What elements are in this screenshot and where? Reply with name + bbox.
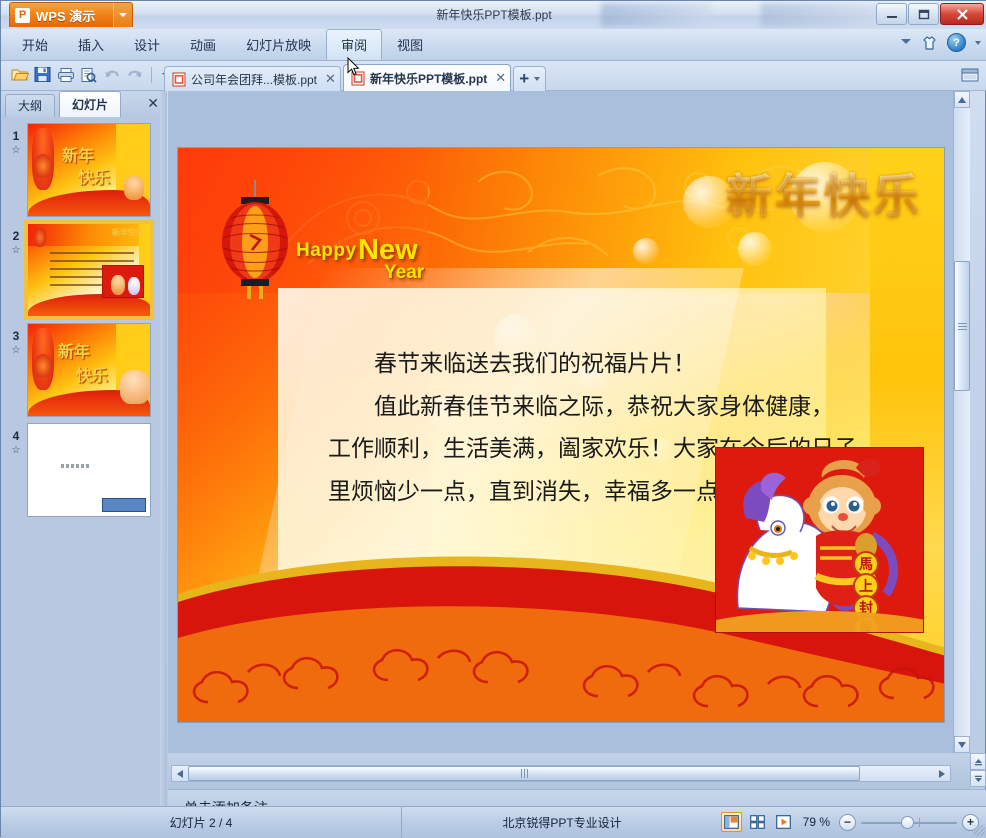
slide-counter: 幻灯片 2 / 4 bbox=[1, 807, 402, 838]
resize-grip-icon[interactable] bbox=[974, 825, 985, 836]
scroll-right-button[interactable] bbox=[934, 766, 950, 781]
chevron-down-icon[interactable] bbox=[900, 37, 912, 49]
zoom-out-button[interactable]: − bbox=[839, 814, 856, 831]
ppt-file-icon bbox=[172, 72, 186, 87]
slide-horizontal-scroll-area bbox=[168, 753, 970, 789]
quick-access-and-doctabs-row: 公司年会团拜...模板.ppt ✕ 新年快乐PPT模板.ppt ✕ + bbox=[1, 61, 986, 91]
bokeh-circle bbox=[738, 232, 772, 266]
previous-slide-button[interactable] bbox=[970, 753, 986, 770]
thumbnail-preview[interactable]: 新年 快乐 bbox=[27, 123, 151, 217]
slide-sorter-view-button[interactable] bbox=[747, 812, 768, 832]
status-bar: 幻灯片 2 / 4 北京锐得PPT专业设计 79 % − + bbox=[1, 806, 986, 838]
thumbnail-number-label: 3 bbox=[13, 329, 20, 343]
scrollbar-grip-icon bbox=[958, 323, 967, 330]
thumbnail-preview-selected[interactable]: 新年快乐 bbox=[27, 223, 151, 317]
mouse-cursor-icon bbox=[347, 57, 360, 76]
thumbnail-star-icon: ☆ bbox=[5, 145, 27, 156]
thumbnail-number: 4 ☆ bbox=[5, 423, 27, 456]
document-tab-1-label: 公司年会团拜...模板.ppt bbox=[191, 71, 317, 88]
slide-horizontal-scrollbar[interactable] bbox=[171, 765, 951, 782]
view-and-zoom-controls: 79 % − + bbox=[721, 812, 979, 832]
thumbnail-preview[interactable] bbox=[27, 423, 151, 517]
normal-view-button[interactable] bbox=[721, 812, 742, 832]
monkey-horse-picture[interactable]: 馬 上 封 侯 bbox=[715, 447, 924, 633]
document-tab-2[interactable]: 新年快乐PPT模板.ppt ✕ bbox=[343, 64, 511, 91]
ribbon-tab-view[interactable]: 视图 bbox=[382, 29, 438, 60]
help-icon[interactable]: ? bbox=[947, 33, 966, 52]
title-bar: P WPS 演示 新年快乐PPT模板.ppt bbox=[1, 1, 986, 29]
window-document-title: 新年快乐PPT模板.ppt bbox=[1, 1, 986, 29]
scroll-down-button[interactable] bbox=[954, 736, 970, 753]
panel-splitter[interactable] bbox=[160, 91, 167, 806]
slide-body-line-2: 值此新春佳节来临之际，恭祝大家身体健康， bbox=[328, 386, 888, 429]
undo-icon[interactable] bbox=[101, 64, 122, 85]
ribbon-right-tools: ? bbox=[900, 33, 981, 52]
wps-presentation-window: P WPS 演示 新年快乐PPT模板.ppt 开始 插入 设计 动画 幻灯片放映… bbox=[0, 0, 986, 837]
scrollbar-grip-icon bbox=[521, 769, 528, 778]
editor-body: 大纲 幻灯片 ✕ 1 ☆ 新年 快 bbox=[1, 91, 986, 806]
close-button[interactable] bbox=[940, 3, 984, 25]
thumbnail-number: 2 ☆ bbox=[5, 223, 27, 256]
bokeh-circle bbox=[633, 238, 659, 264]
slide-thumbnail-list[interactable]: 1 ☆ 新年 快乐 bbox=[1, 117, 159, 806]
document-tab-2-label: 新年快乐PPT模板.ppt bbox=[370, 70, 487, 87]
thumbnail-star-icon: ☆ bbox=[5, 345, 27, 356]
zoom-slider[interactable] bbox=[861, 814, 957, 831]
save-icon[interactable] bbox=[32, 64, 53, 85]
current-slide[interactable]: Happy New Year 新年快乐 新年快乐 春节来临送去我们的祝福片片！ … bbox=[177, 147, 945, 723]
panel-tab-outline[interactable]: 大纲 bbox=[5, 94, 55, 117]
zoom-level-label: 79 % bbox=[803, 815, 830, 829]
svg-text:馬: 馬 bbox=[859, 557, 873, 573]
zoom-slider-handle[interactable] bbox=[901, 816, 914, 829]
ribbon-tabs: 开始 插入 设计 动画 幻灯片放映 审阅 视图 bbox=[7, 29, 438, 61]
red-lantern-icon bbox=[218, 180, 292, 300]
quick-access-toolbar bbox=[9, 64, 173, 85]
status-credit-text: 北京锐得PPT专业设计 bbox=[402, 807, 722, 838]
vertical-scrollbar-thumb[interactable] bbox=[954, 261, 970, 391]
slideshow-view-button[interactable] bbox=[773, 812, 794, 832]
thumbnail-number: 1 ☆ bbox=[5, 123, 27, 156]
year-word: Year bbox=[384, 262, 424, 284]
thumbnail-preview[interactable]: 新年 快乐 bbox=[27, 323, 151, 417]
print-icon[interactable] bbox=[55, 64, 76, 85]
document-tab-1[interactable]: 公司年会团拜...模板.ppt ✕ bbox=[164, 66, 341, 91]
slide-thumbnail-item[interactable]: 4 ☆ bbox=[5, 423, 159, 517]
redo-icon[interactable] bbox=[124, 64, 145, 85]
ribbon-tab-slideshow[interactable]: 幻灯片放映 bbox=[231, 29, 326, 60]
window-controls bbox=[876, 3, 984, 25]
ribbon-tab-review[interactable]: 审阅 bbox=[326, 29, 382, 60]
document-tab-2-close-icon[interactable]: ✕ bbox=[495, 73, 506, 83]
new-tab-dropdown-icon[interactable] bbox=[534, 77, 540, 81]
ribbon-tab-animation[interactable]: 动画 bbox=[175, 29, 231, 60]
slide-title[interactable]: 新年快乐 bbox=[726, 160, 922, 226]
maximize-button[interactable] bbox=[908, 3, 939, 25]
panel-tab-slides[interactable]: 幻灯片 bbox=[59, 91, 121, 117]
slide-body-line-1: 春节来临送去我们的祝福片片！ bbox=[328, 343, 888, 386]
zoom-slider-tick bbox=[919, 818, 920, 827]
thumbnail-number-label: 4 bbox=[13, 429, 20, 443]
ribbon-tab-design[interactable]: 设计 bbox=[119, 29, 175, 60]
print-preview-icon[interactable] bbox=[78, 64, 99, 85]
svg-text:上: 上 bbox=[859, 579, 873, 595]
thumbnail-star-icon: ☆ bbox=[5, 245, 27, 256]
slides-panel: 大纲 幻灯片 ✕ 1 ☆ 新年 快 bbox=[1, 91, 167, 806]
slide-editing-stage: Happy New Year 新年快乐 新年快乐 春节来临送去我们的祝福片片！ … bbox=[168, 91, 970, 753]
scroll-up-button[interactable] bbox=[954, 91, 970, 108]
next-slide-button[interactable] bbox=[970, 770, 986, 787]
ribbon-tab-start[interactable]: 开始 bbox=[7, 29, 63, 60]
slide-vertical-scrollbar[interactable] bbox=[953, 91, 970, 753]
task-pane-toggle-icon[interactable] bbox=[961, 67, 979, 83]
ribbon-tab-insert[interactable]: 插入 bbox=[63, 29, 119, 60]
slide-navigation-buttons bbox=[970, 753, 986, 789]
panel-close-icon[interactable]: ✕ bbox=[147, 95, 159, 112]
open-icon[interactable] bbox=[9, 64, 30, 85]
happy-word: Happy bbox=[296, 240, 357, 262]
new-document-tab-button[interactable]: + bbox=[513, 66, 546, 91]
skin-icon[interactable] bbox=[921, 35, 938, 51]
dropdown-arrow-icon[interactable] bbox=[975, 41, 981, 45]
ribbon-tab-strip: 开始 插入 设计 动画 幻灯片放映 审阅 视图 ? bbox=[1, 29, 986, 61]
horizontal-scrollbar-thumb[interactable] bbox=[188, 766, 860, 781]
minimize-button[interactable] bbox=[876, 3, 907, 25]
slide-thumbnail-item[interactable]: 1 ☆ 新年 快乐 bbox=[5, 123, 159, 217]
toolbar-separator bbox=[151, 67, 152, 83]
slide-thumbnail-item[interactable]: 2 ☆ 新年快乐 bbox=[5, 223, 159, 317]
thumbnail-star-icon: ☆ bbox=[5, 445, 27, 456]
thumbnail-number: 3 ☆ bbox=[5, 323, 27, 356]
slide-thumbnail-item[interactable]: 3 ☆ 新年 快乐 bbox=[5, 323, 159, 417]
slides-panel-tabs: 大纲 幻灯片 ✕ bbox=[1, 91, 167, 117]
happy-new-year-text: Happy New Year bbox=[296, 240, 486, 288]
scroll-left-button[interactable] bbox=[172, 766, 188, 781]
plus-icon: + bbox=[519, 72, 529, 86]
document-tab-1-close-icon[interactable]: ✕ bbox=[325, 74, 336, 84]
thumbnail-number-label: 1 bbox=[13, 129, 20, 143]
thumbnail-number-label: 2 bbox=[13, 229, 20, 243]
